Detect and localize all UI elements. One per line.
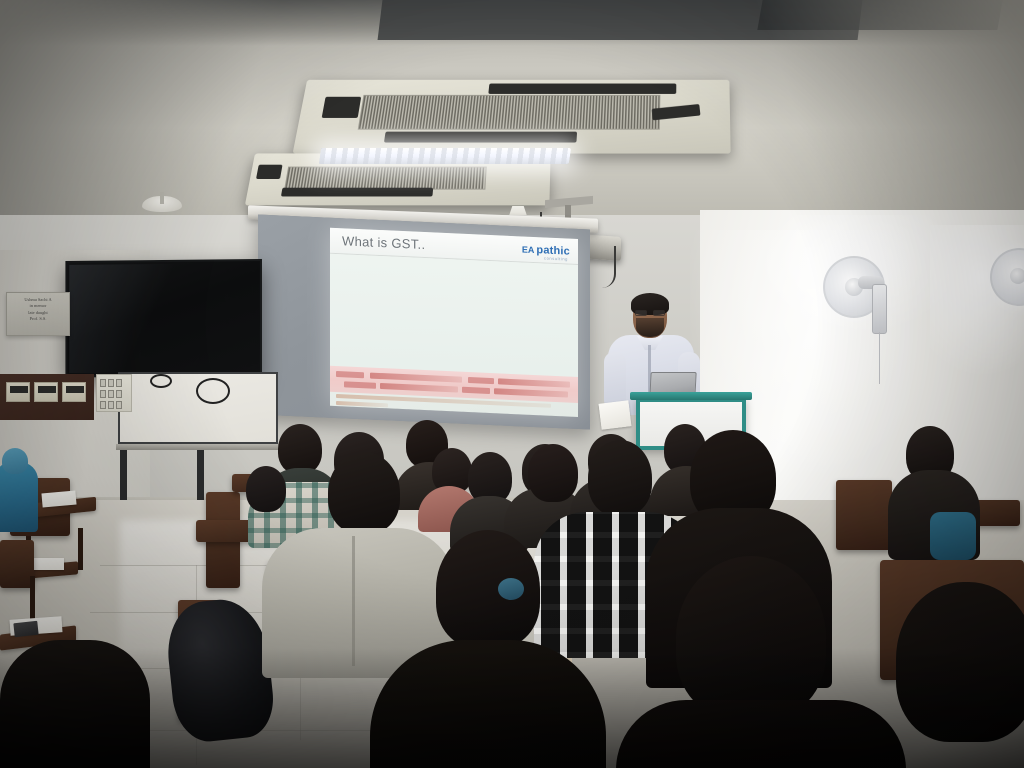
projection-screen: What is GST.. EA pathic consulting (258, 214, 590, 429)
person-head (436, 530, 540, 648)
projected-slide: What is GST.. EA pathic consulting (330, 228, 578, 417)
tv-screen-reflection (69, 263, 258, 375)
table-row (498, 378, 570, 387)
light-switch-plate-3[interactable] (62, 382, 86, 402)
breaker-row (100, 379, 122, 387)
presenter-beard (636, 318, 664, 337)
person-top (930, 512, 976, 560)
glasses-lens-right (653, 310, 665, 316)
breaker-switch-icon[interactable] (100, 401, 106, 409)
presenter-glasses-icon (635, 310, 665, 316)
ac-vent-side (256, 165, 283, 179)
chair-leg (30, 576, 35, 620)
table-row (380, 383, 458, 393)
notebook (13, 621, 38, 637)
shirt-seam (352, 536, 355, 666)
light-switch-plate-1[interactable] (6, 382, 30, 402)
breaker-switch-icon[interactable] (108, 390, 114, 398)
ac-vent-lower (281, 188, 433, 197)
person-head (896, 582, 1024, 742)
tube-light-diffuser (319, 148, 571, 164)
fluorescent-tube-light (319, 148, 571, 164)
switch-rocker-icon[interactable] (10, 386, 28, 393)
chair-leg (78, 528, 83, 570)
logo-tagline: consulting (544, 255, 568, 261)
person-shoulders (0, 640, 150, 768)
ac-grille (284, 167, 487, 190)
ac-vent-side (322, 97, 362, 118)
person-head (278, 424, 322, 474)
glasses-lens-left (635, 310, 647, 316)
slide-body (330, 254, 578, 377)
breaker-switch-icon[interactable] (108, 401, 114, 409)
ceiling-fan-rod-left (160, 192, 164, 204)
logo-mark: EA (522, 244, 535, 255)
table-cell (344, 381, 376, 388)
ceiling-shadow-right (724, 0, 1024, 232)
classroom-photo-scene: What is GST.. EA pathic consulting (0, 0, 1024, 768)
chair-back (0, 540, 34, 588)
podium-papers (599, 400, 632, 429)
person-head (676, 556, 826, 720)
podium-top-rail (630, 392, 752, 400)
breaker-row (100, 390, 122, 398)
wall-fan-bracket-left (872, 284, 887, 334)
breaker-switch-icon[interactable] (100, 379, 106, 387)
hanging-cable-loop (196, 378, 230, 404)
breaker-switch-icon[interactable] (116, 401, 122, 409)
hanging-cable-loop-small (150, 374, 172, 388)
ceiling-shadow-left (0, 0, 280, 232)
flat-screen-tv[interactable] (65, 259, 262, 379)
table-row (370, 373, 462, 383)
plaque-line-4: Prof. S.S. (10, 316, 66, 322)
person-shoulders (616, 700, 906, 768)
whiteboard-marker-tray (116, 444, 280, 450)
wall-fan-pull-cord-left[interactable] (879, 332, 880, 384)
chair-back-post (836, 480, 892, 550)
table-row (494, 388, 568, 397)
memorial-plaque: Ushma Sachi A in memor late daught Prof.… (6, 292, 70, 336)
ac-cassette-unit-1 (293, 80, 731, 154)
breaker-row (100, 401, 122, 409)
hair-clip (498, 578, 524, 600)
breaker-switch-icon[interactable] (108, 379, 114, 387)
table-cell (462, 387, 490, 394)
electrical-distribution-box (96, 374, 132, 412)
breaker-switch-icon[interactable] (116, 390, 122, 398)
projector-cable-secondary (600, 246, 616, 288)
wall-fan-hub-right (1010, 268, 1024, 284)
paper-handout (41, 491, 76, 508)
switch-rocker-icon[interactable] (66, 386, 84, 393)
ac-vent-lower (384, 132, 577, 143)
person-head (328, 452, 400, 534)
person-head (528, 444, 578, 502)
person-head (588, 440, 652, 516)
ac-vent-upper (488, 84, 676, 94)
light-switch-plate-2[interactable] (34, 382, 58, 402)
breaker-switch-icon[interactable] (116, 379, 122, 387)
switch-rocker-icon[interactable] (38, 386, 56, 393)
ac-grille (358, 95, 661, 130)
table-cell (468, 377, 494, 384)
person-head (2, 448, 28, 474)
person-head (246, 466, 286, 512)
breaker-switch-icon[interactable] (100, 390, 106, 398)
table-cell (336, 371, 364, 378)
